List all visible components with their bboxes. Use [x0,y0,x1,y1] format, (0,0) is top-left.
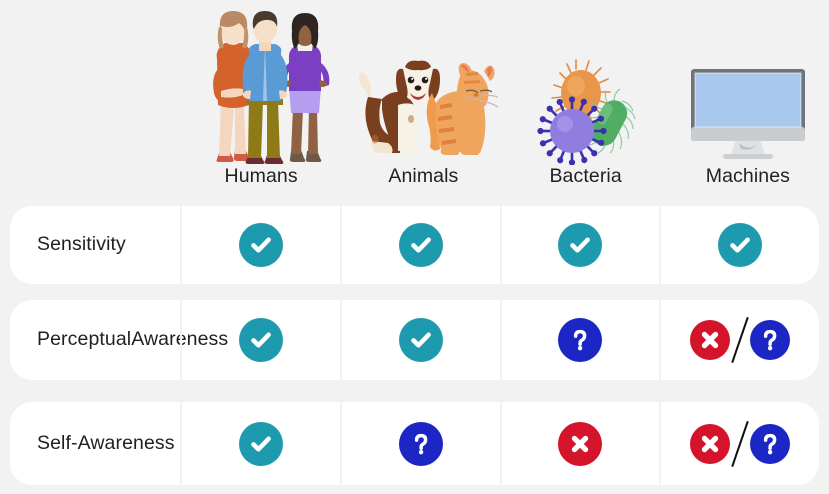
slash-separator [731,317,749,363]
cell-marks [558,422,602,466]
cell-marks [399,318,443,362]
microbes-illustration [534,59,638,165]
column-header-bacteria: Bacteria [505,0,667,200]
column-label-humans: Humans [225,167,298,201]
column-label-bacteria: Bacteria [549,167,621,201]
cell-self-awareness-bacteria [500,402,660,485]
matrix-row-perceptual-awareness: PerceptualAwareness [10,300,819,380]
header-label-spacer [0,0,180,200]
comparison-matrix-figure: Humans [0,0,829,494]
cell-sensitivity-humans [180,206,340,284]
machines-illustration-wrapper [667,7,829,167]
three-people-illustration [191,9,331,165]
cross-icon [690,424,730,464]
question-icon [558,318,602,362]
cross-icon [558,422,602,466]
cell-perceptual-awareness-humans [180,300,340,380]
row-label-perceptual-awareness: PerceptualAwareness [10,300,180,380]
check-icon [399,223,443,267]
matrix-row-sensitivity: Sensitivity [10,206,819,284]
row-label-line: Self-Awareness [37,432,175,455]
cell-marks [558,223,602,267]
row-label-self-awareness: Self-Awareness [10,402,180,485]
cell-perceptual-awareness-bacteria [500,300,660,380]
matrix-row-self-awareness: Self-Awareness [10,402,819,485]
cell-marks [239,223,283,267]
column-header-animals: Animals [342,0,504,200]
question-icon [750,424,790,464]
cell-self-awareness-humans [180,402,340,485]
cell-marks [239,422,283,466]
cell-sensitivity-bacteria [500,206,660,284]
cross-icon [690,320,730,360]
cell-marks [690,421,790,467]
check-icon [718,223,762,267]
check-icon [239,422,283,466]
question-icon [750,320,790,360]
column-label-machines: Machines [706,167,790,201]
cell-self-awareness-animals [340,402,500,485]
cell-marks [558,318,602,362]
animals-illustration-wrapper [342,7,504,167]
cell-sensitivity-machines [659,206,819,284]
cell-marks [690,317,790,363]
row-label-line: Perceptual [37,328,131,351]
cell-marks [399,223,443,267]
cell-perceptual-awareness-animals [340,300,500,380]
column-header-row: Humans [0,0,829,200]
cell-marks [718,223,762,267]
check-icon [239,223,283,267]
cell-sensitivity-animals [340,206,500,284]
row-label-sensitivity: Sensitivity [10,206,180,284]
column-header-humans: Humans [180,0,342,200]
check-icon [399,318,443,362]
humans-illustration-wrapper [180,7,342,167]
row-label-line: Sensitivity [37,233,126,256]
cell-marks [239,318,283,362]
dog-and-cat-illustration [348,53,498,165]
column-header-machines: Machines [667,0,829,200]
cell-self-awareness-machines [659,402,819,485]
cell-marks [399,422,443,466]
question-icon [399,422,443,466]
slash-separator [731,421,749,467]
column-label-animals: Animals [388,167,458,201]
bacteria-illustration-wrapper [505,7,667,167]
check-icon [558,223,602,267]
cell-perceptual-awareness-machines [659,300,819,380]
desktop-monitor-illustration [683,65,813,165]
check-icon [239,318,283,362]
